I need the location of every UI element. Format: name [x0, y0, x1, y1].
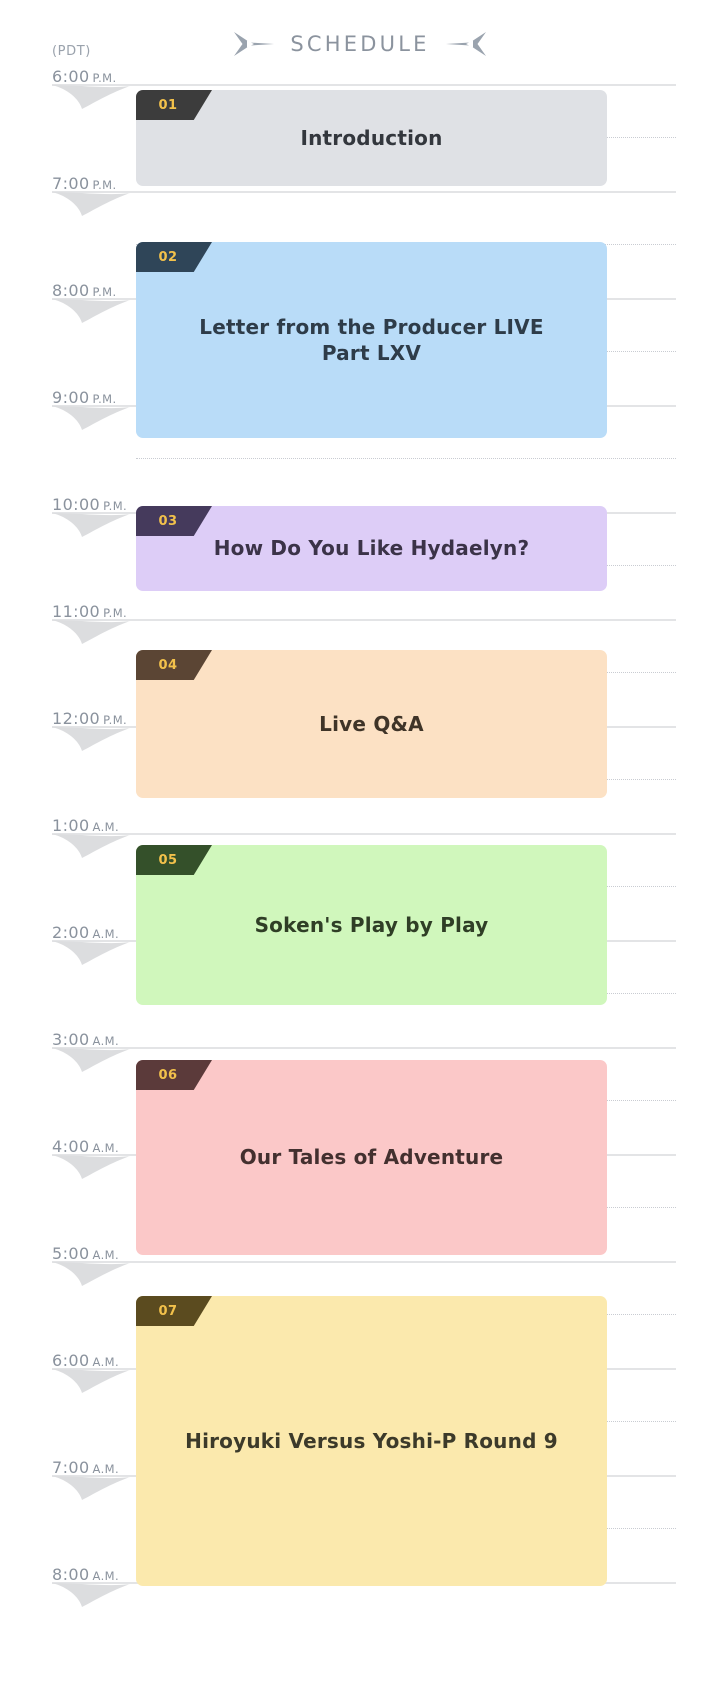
session-block[interactable]: Introduction01	[136, 90, 607, 186]
session-block[interactable]: Letter from the Producer LIVE Part LXV02	[136, 242, 607, 438]
session-title: Introduction	[276, 125, 466, 151]
session-number-badge: 01	[136, 90, 212, 120]
session-number-badge: 07	[136, 1296, 212, 1326]
session-number: 05	[158, 853, 177, 868]
session-number-badge: 02	[136, 242, 212, 272]
session-block[interactable]: Live Q&A04	[136, 650, 607, 798]
session-block[interactable]: How Do You Like Hydaelyn?03	[136, 506, 607, 591]
session-title: Letter from the Producer LIVE Part LXV	[175, 314, 567, 367]
session-title: Our Tales of Adventure	[216, 1144, 528, 1170]
session-title: Soken's Play by Play	[231, 912, 513, 938]
session-number: 06	[158, 1068, 177, 1083]
session-block[interactable]: Soken's Play by Play05	[136, 845, 607, 1005]
session-number-badge: 03	[136, 506, 212, 536]
session-number: 01	[158, 98, 177, 113]
session-list: Introduction01Letter from the Producer L…	[0, 0, 720, 1695]
session-number-badge: 06	[136, 1060, 212, 1090]
session-number: 02	[158, 250, 177, 265]
session-title: Hiroyuki Versus Yoshi-P Round 9	[161, 1428, 582, 1454]
session-block[interactable]: Our Tales of Adventure06	[136, 1060, 607, 1255]
session-number: 07	[158, 1304, 177, 1319]
session-number-badge: 04	[136, 650, 212, 680]
session-title: Live Q&A	[295, 711, 448, 737]
session-block[interactable]: Hiroyuki Versus Yoshi-P Round 907	[136, 1296, 607, 1586]
session-number: 03	[158, 514, 177, 529]
session-number: 04	[158, 658, 177, 673]
session-title: How Do You Like Hydaelyn?	[190, 535, 554, 561]
session-number-badge: 05	[136, 845, 212, 875]
